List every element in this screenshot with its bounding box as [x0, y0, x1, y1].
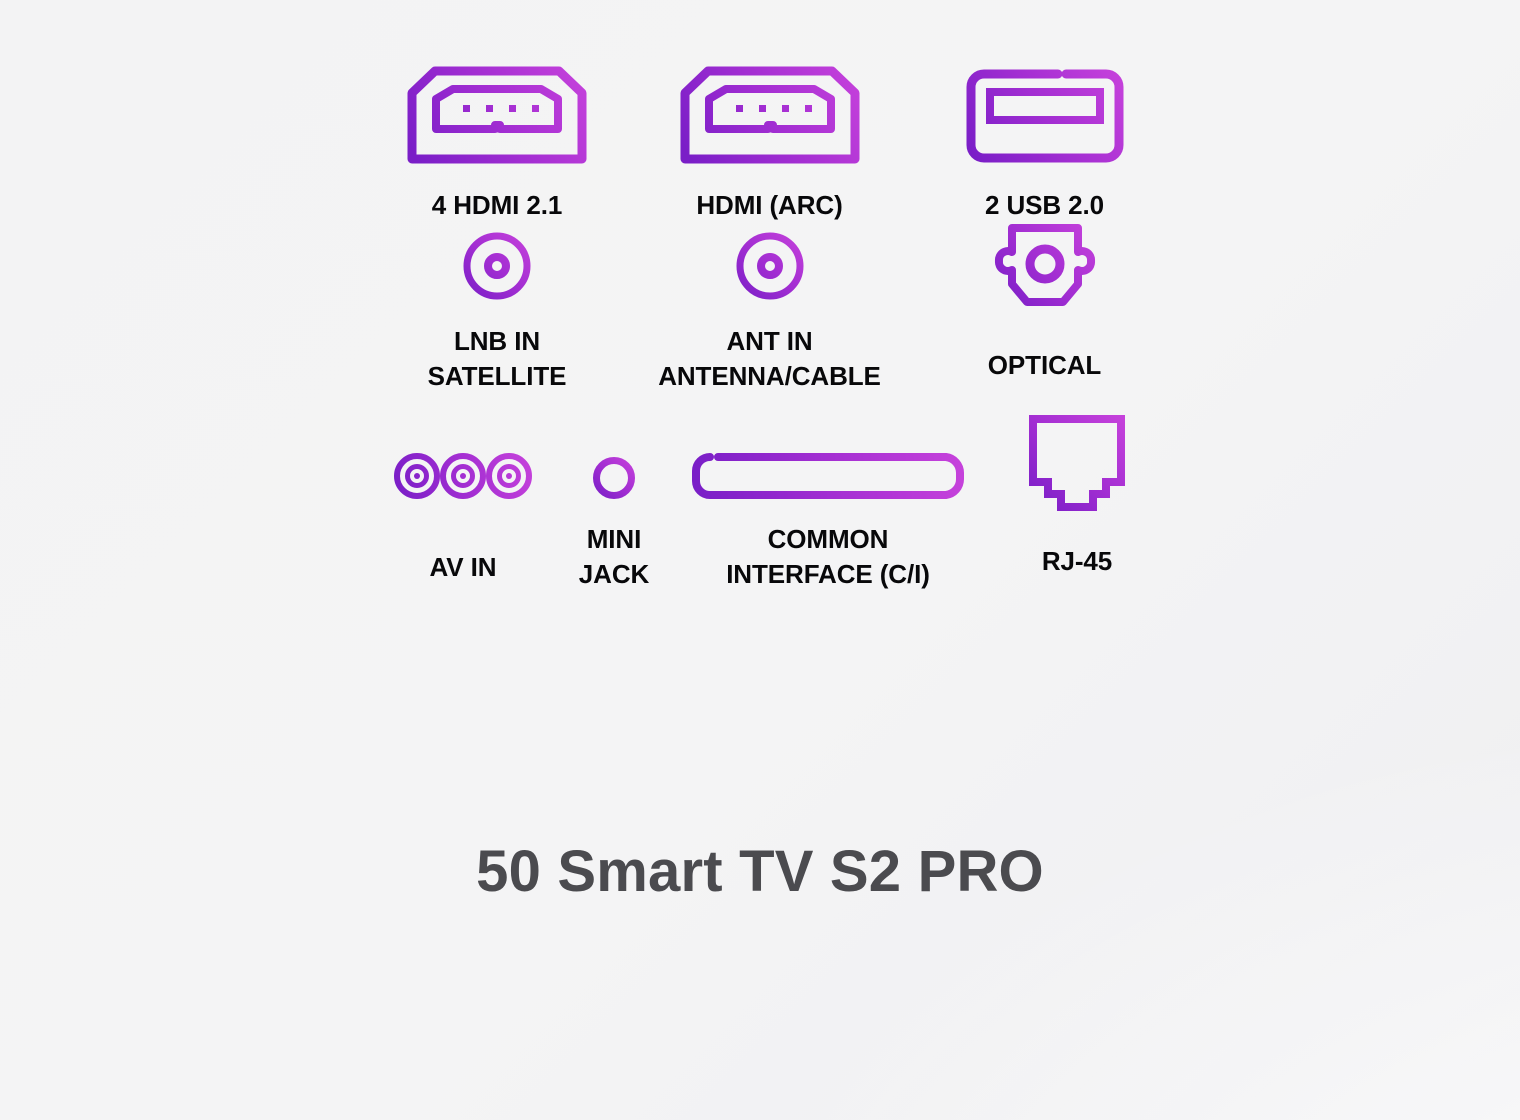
page-title: 50 Smart TV S2 PRO: [0, 838, 1520, 905]
hdmi-arc-port-icon: [680, 58, 860, 163]
port-item-hdmi-arc: HDMI (ARC): [622, 58, 917, 221]
optical-toslink-icon: [995, 226, 1095, 308]
coaxial-connector-icon: [734, 226, 806, 302]
port-item-av-in: AV IN: [372, 440, 554, 583]
hdmi-port-icon: [407, 58, 587, 163]
port-label: 4 HDMI 2.1: [432, 190, 563, 221]
port-label: COMMON INTERFACE (C/I): [726, 522, 930, 592]
mini-jack-icon: [592, 440, 636, 500]
port-item-rj-45: RJ-45: [982, 410, 1172, 577]
port-item-common-interface: COMMON INTERFACE (C/I): [674, 440, 982, 592]
port-item-ant-in-antenna-cable: ANT IN ANTENNA/CABLE: [622, 226, 917, 394]
rj45-ethernet-icon: [1028, 410, 1126, 512]
coaxial-connector-icon: [461, 226, 533, 302]
port-item-hdmi-2-1: 4 HDMI 2.1: [372, 58, 622, 221]
port-item-mini-jack: MINI JACK: [554, 440, 674, 592]
port-label: 2 USB 2.0: [985, 190, 1104, 221]
ports-row-3: AV IN MINI JACK: [372, 434, 1172, 619]
common-interface-slot-icon: [692, 440, 964, 500]
port-item-optical: OPTICAL: [917, 226, 1172, 381]
port-label: OPTICAL: [988, 350, 1101, 381]
port-label: MINI JACK: [579, 522, 649, 592]
rca-triple-connector-icon: [393, 440, 533, 500]
ports-row-2: LNB IN SATELLITE: [372, 226, 1172, 434]
port-label: LNB IN SATELLITE: [428, 324, 567, 394]
port-label: AV IN: [430, 552, 497, 583]
port-item-lnb-in-satellite: LNB IN SATELLITE: [372, 226, 622, 394]
port-label: ANT IN ANTENNA/CABLE: [658, 324, 881, 394]
usb-port-icon: [966, 58, 1124, 163]
poster-canvas: 4 HDMI 2.1: [0, 0, 1520, 1120]
ports-row-1: 4 HDMI 2.1: [372, 58, 1172, 226]
port-item-usb-2-0: 2 USB 2.0: [917, 58, 1172, 221]
ports-grid: 4 HDMI 2.1: [372, 58, 1172, 619]
port-label: RJ-45: [1042, 546, 1112, 577]
port-label: HDMI (ARC): [696, 190, 842, 221]
